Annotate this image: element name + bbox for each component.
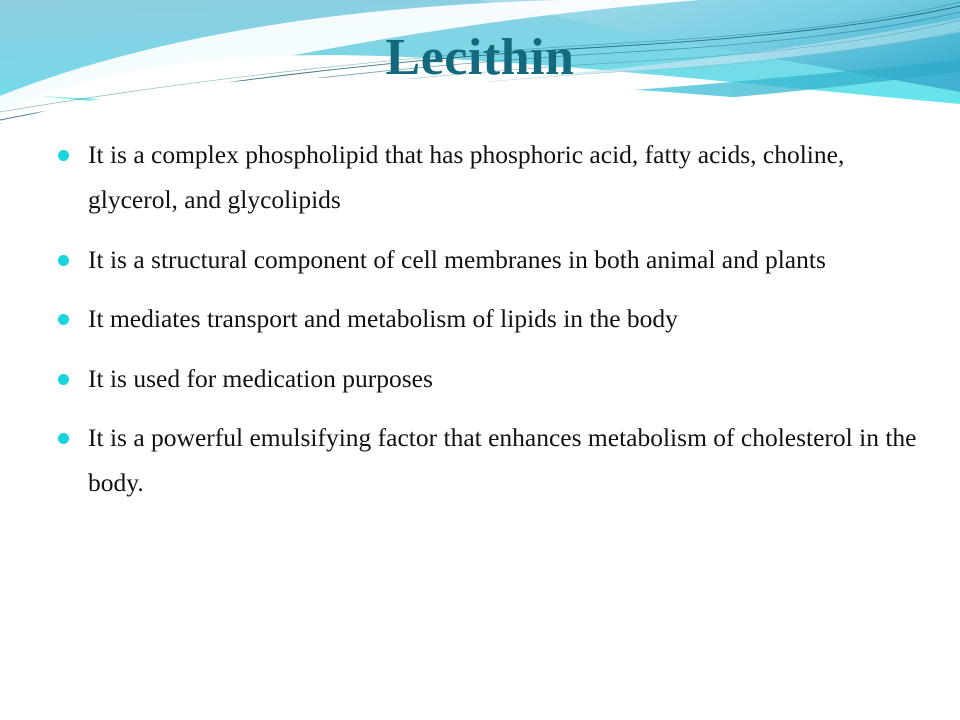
bullet-list: It is a complex phospholipid that has ph… xyxy=(0,132,960,506)
list-item: It is a powerful emulsifying factor that… xyxy=(0,415,960,506)
bullet-dot-icon xyxy=(58,255,69,266)
bullet-dot-icon xyxy=(58,150,69,161)
list-item-text: It is used for medication purposes xyxy=(88,356,920,401)
bullet-dot-icon xyxy=(58,433,69,444)
list-item-text: It mediates transport and metabolism of … xyxy=(88,296,920,341)
slide: Lecithin It is a complex phospholipid th… xyxy=(0,0,960,720)
page-title: Lecithin xyxy=(386,32,575,88)
list-item: It is a structural component of cell mem… xyxy=(0,237,960,282)
list-item: It mediates transport and metabolism of … xyxy=(0,296,960,341)
list-item: It is a complex phospholipid that has ph… xyxy=(0,132,960,223)
list-item-text: It is a structural component of cell mem… xyxy=(88,237,920,282)
bullet-dot-icon xyxy=(58,374,69,385)
list-item-text: It is a powerful emulsifying factor that… xyxy=(88,415,920,506)
content-body: It is a complex phospholipid that has ph… xyxy=(0,132,960,520)
list-item: It is used for medication purposes xyxy=(0,356,960,401)
list-item-text: It is a complex phospholipid that has ph… xyxy=(88,132,920,223)
title-area: Lecithin xyxy=(0,0,960,120)
bullet-dot-icon xyxy=(58,314,69,325)
